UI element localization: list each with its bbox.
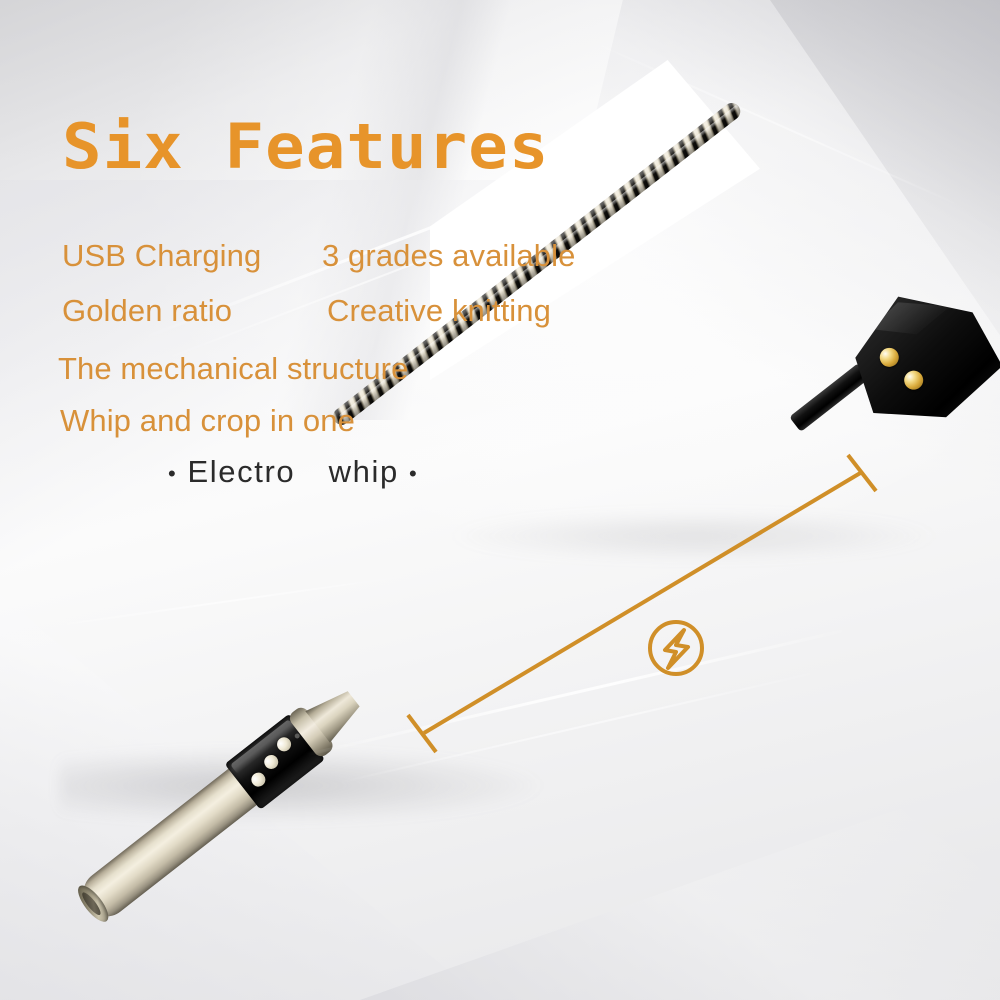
tagline-word-electro: Electro	[188, 454, 296, 489]
feature-grades-available: 3 grades available	[322, 240, 575, 271]
dimension-cap-start	[408, 715, 436, 752]
feature-golden-ratio: Golden ratio	[62, 295, 232, 326]
bullet-left: •	[168, 461, 177, 486]
tagline-word-whip: whip	[329, 454, 399, 489]
product-tagline: • Electro whip •	[168, 456, 418, 487]
feature-mechanical-structure: The mechanical structure	[58, 353, 408, 384]
feature-whip-and-crop: Whip and crop in one	[60, 405, 355, 436]
page-title: Six Features	[62, 116, 550, 178]
lightning-bolt-icon	[650, 622, 702, 674]
dimension-cap-end	[848, 455, 876, 491]
product-feature-poster: Six Features USB Charging 3 grades avail…	[0, 0, 1000, 1000]
feature-usb-charging: USB Charging	[62, 240, 261, 271]
dimension-line	[424, 472, 862, 733]
feature-creative-knitting: Creative knitting	[327, 295, 551, 326]
bullet-right: •	[409, 461, 418, 486]
